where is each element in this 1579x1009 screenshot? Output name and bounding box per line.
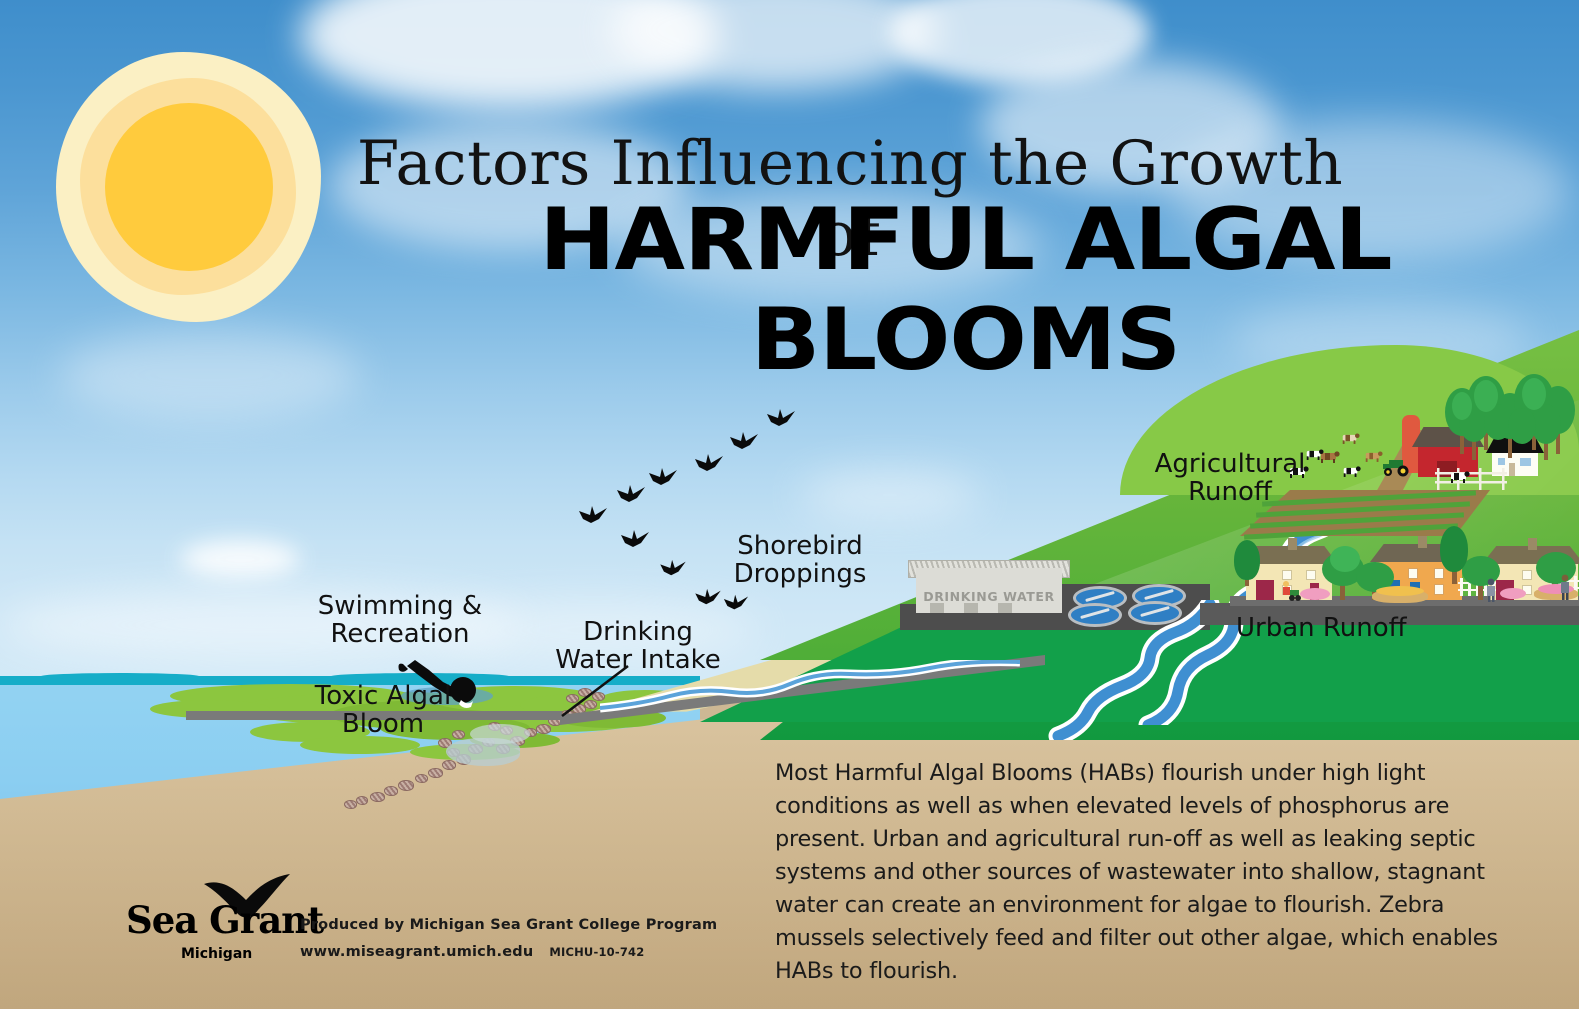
cloud xyxy=(180,540,300,578)
credits-pub-number: MICHU-10-742 xyxy=(549,942,644,963)
cow-icon xyxy=(1448,470,1470,484)
label-swimming-recreation: Swimming & Recreation xyxy=(300,592,500,648)
label-toxic-algal-bloom: Toxic Algal Bloom xyxy=(288,682,478,738)
person-mowing-icon xyxy=(1278,580,1304,602)
cloud xyxy=(800,470,980,520)
label-shorebird-droppings: Shorebird Droppings xyxy=(700,532,900,588)
intake-leader-line xyxy=(556,664,636,724)
credits-producer: Produced by Michigan Sea Grant College P… xyxy=(300,912,720,939)
cloud xyxy=(60,330,360,420)
credits-block: Produced by Michigan Sea Grant College P… xyxy=(300,912,720,966)
infographic-poster: Factors Influencing the Growth of HARMFU… xyxy=(0,0,1579,1009)
flower-bed xyxy=(1300,588,1330,600)
body-paragraph: Most Harmful Algal Blooms (HABs) flouris… xyxy=(775,757,1515,987)
wet-sand-patch xyxy=(470,724,530,744)
credits-website[interactable]: www.miseagrant.umich.edu xyxy=(300,939,533,966)
house-window xyxy=(1306,570,1316,580)
logo-state: Michigan xyxy=(181,946,301,962)
house-window xyxy=(1434,568,1444,579)
house-window xyxy=(1434,584,1444,595)
label-agricultural-runoff: Agricultural Runoff xyxy=(1130,450,1330,506)
flower-bed xyxy=(1376,586,1424,596)
cow-icon xyxy=(1340,432,1360,445)
bird-icon xyxy=(648,466,678,488)
sun-core xyxy=(105,103,273,271)
plant-door xyxy=(930,603,944,613)
bird-icon xyxy=(578,504,608,526)
bird-icon xyxy=(766,407,796,429)
house-window xyxy=(1522,570,1532,580)
bird-icon xyxy=(729,430,759,452)
bird-icon xyxy=(694,452,724,474)
house-window xyxy=(1282,570,1292,580)
chimney xyxy=(1288,538,1297,550)
house-window xyxy=(1408,568,1418,579)
plant-door xyxy=(964,603,978,613)
bird-icon xyxy=(659,558,687,578)
garage-door xyxy=(1256,580,1274,600)
bird-icon xyxy=(616,483,646,505)
logo-wordmark: Sea Grant xyxy=(126,898,291,942)
label-urban-runoff: Urban Runoff xyxy=(1236,614,1426,642)
tractor-icon xyxy=(1381,457,1413,477)
chimney xyxy=(1418,536,1427,548)
sea-grant-logo: Sea Grant Michigan xyxy=(126,888,291,973)
cow-icon xyxy=(1363,450,1383,463)
livestock-pen-fence xyxy=(1435,466,1507,494)
flower-bed xyxy=(1500,588,1526,599)
bird-icon xyxy=(620,528,650,550)
person-icon xyxy=(1558,574,1572,600)
chimney xyxy=(1528,538,1537,550)
sun-icon xyxy=(56,52,321,322)
person-icon xyxy=(1484,578,1498,602)
cow-icon xyxy=(1341,465,1361,478)
